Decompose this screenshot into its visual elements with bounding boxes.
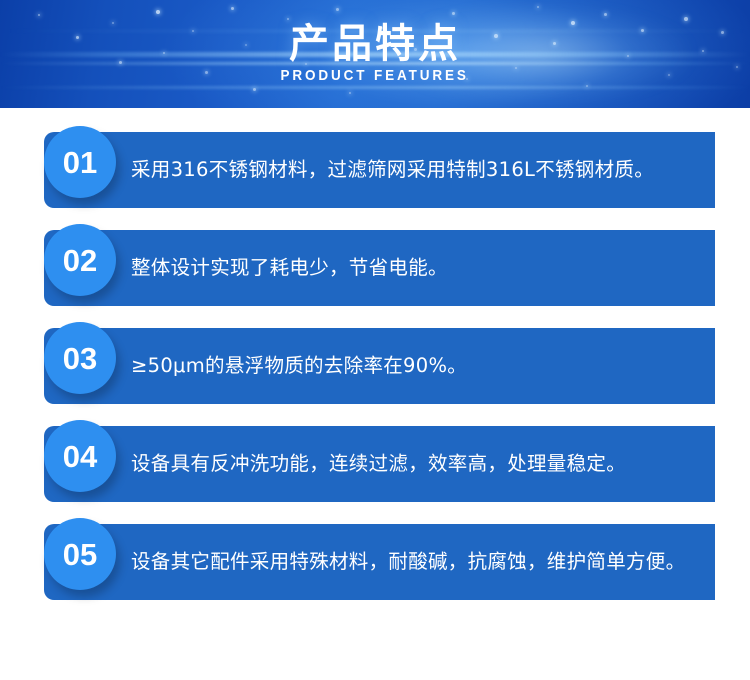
feature-number: 01 [63, 147, 97, 178]
banner-subtitle: PRODUCT FEATURES [281, 68, 469, 85]
feature-text: ≥50μm的悬浮物质的去除率在90%。 [131, 328, 691, 404]
feature-number-badge: 01 [44, 126, 116, 198]
feature-number: 02 [63, 245, 97, 276]
feature-number-badge: 04 [44, 420, 116, 492]
feature-number-badge: 05 [44, 518, 116, 590]
feature-item-05: 设备其它配件采用特殊材料，耐酸碱，抗腐蚀，维护简单方便。 05 [0, 518, 750, 606]
feature-text: 采用316不锈钢材料，过滤筛网采用特制316L不锈钢材质。 [131, 132, 691, 208]
banner-title: 产品特点 [289, 23, 461, 66]
feature-number: 03 [63, 343, 97, 374]
feature-item-03: ≥50μm的悬浮物质的去除率在90%。 03 [0, 322, 750, 410]
feature-item-04: 设备具有反冲洗功能，连续过滤，效率高，处理量稳定。 04 [0, 420, 750, 508]
feature-item-02: 整体设计实现了耗电少，节省电能。 02 [0, 224, 750, 312]
feature-item-01: 采用316不锈钢材料，过滤筛网采用特制316L不锈钢材质。 01 [0, 126, 750, 214]
feature-number: 04 [63, 441, 97, 472]
page-header-banner: 产品特点 PRODUCT FEATURES [0, 0, 750, 108]
feature-number-badge: 03 [44, 322, 116, 394]
feature-text: 整体设计实现了耗电少，节省电能。 [131, 230, 691, 306]
feature-number: 05 [63, 539, 97, 570]
feature-number-badge: 02 [44, 224, 116, 296]
feature-text: 设备具有反冲洗功能，连续过滤，效率高，处理量稳定。 [131, 426, 691, 502]
feature-list: 采用316不锈钢材料，过滤筛网采用特制316L不锈钢材质。 01 整体设计实现了… [0, 108, 750, 606]
feature-text: 设备其它配件采用特殊材料，耐酸碱，抗腐蚀，维护简单方便。 [131, 524, 691, 600]
banner-text-block: 产品特点 PRODUCT FEATURES [0, 0, 750, 108]
